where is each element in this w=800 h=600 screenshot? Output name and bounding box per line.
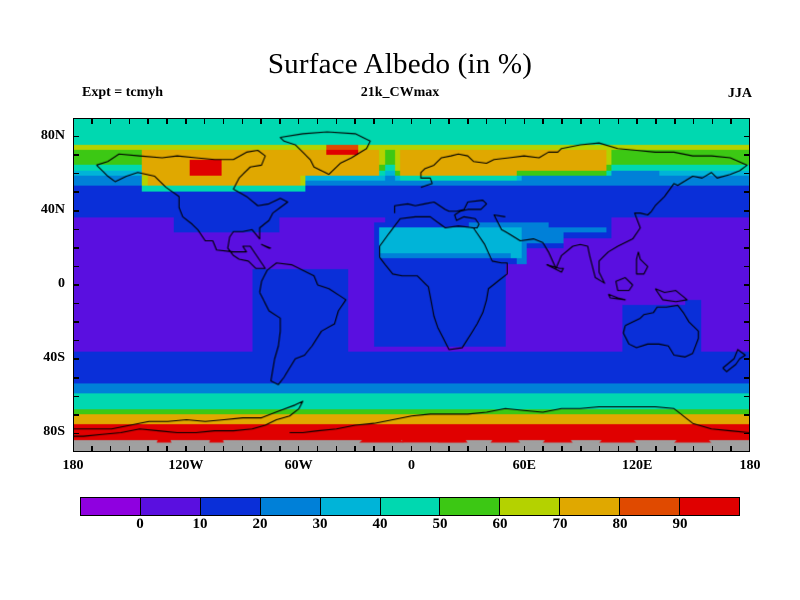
x-axis-tick	[354, 446, 356, 452]
y-axis-tick	[73, 303, 79, 305]
x-axis-tick	[373, 446, 375, 452]
x-axis-tick	[448, 118, 450, 124]
x-axis-tick	[336, 118, 338, 124]
y-axis-tick	[73, 266, 79, 268]
x-axis-label: 120E	[607, 458, 667, 474]
y-axis-tick	[73, 173, 79, 175]
y-axis-tick	[744, 414, 750, 416]
colorbar-swatch	[140, 498, 200, 515]
x-axis-tick	[580, 446, 582, 452]
y-axis-tick	[73, 433, 79, 435]
colorbar-swatch	[200, 498, 260, 515]
x-axis-tick	[147, 446, 149, 452]
colorbar	[80, 497, 740, 516]
y-axis-tick	[73, 210, 79, 212]
x-axis-tick	[505, 446, 507, 452]
colorbar-tick-label: 80	[600, 516, 640, 533]
x-axis-label: 0	[382, 458, 442, 474]
x-axis-tick	[223, 446, 225, 452]
colorbar-swatch	[679, 498, 739, 515]
y-axis-tick	[744, 433, 750, 435]
y-axis-tick	[73, 247, 79, 249]
x-axis-tick	[242, 118, 244, 124]
y-axis-label: 0	[15, 276, 65, 292]
x-axis-tick	[317, 118, 319, 124]
x-axis-tick	[730, 118, 732, 124]
x-axis-tick	[730, 446, 732, 452]
x-axis-tick	[392, 446, 394, 452]
y-axis-label: 80N	[15, 128, 65, 144]
experiment-label: Expt = tcmyh	[82, 85, 163, 101]
x-axis-tick	[561, 118, 563, 124]
x-axis-tick	[373, 118, 375, 124]
y-axis-label: 80S	[15, 424, 65, 440]
x-axis-tick	[655, 118, 657, 124]
y-axis-tick	[73, 414, 79, 416]
figure-root: Surface Albedo (in %) 21k_CWmax Expt = t…	[0, 0, 800, 600]
colorbar-swatch	[380, 498, 440, 515]
albedo-map-canvas	[74, 119, 749, 451]
x-axis-tick	[110, 118, 112, 124]
colorbar-tick-label: 40	[360, 516, 400, 533]
x-axis-tick	[524, 118, 526, 124]
y-axis-tick	[73, 136, 79, 138]
colorbar-swatch	[619, 498, 679, 515]
colorbar-tick-label: 30	[300, 516, 340, 533]
x-axis-label: 180	[43, 458, 103, 474]
y-axis-tick	[744, 154, 750, 156]
x-axis-tick	[561, 446, 563, 452]
y-axis-label: 40S	[15, 350, 65, 366]
x-axis-tick	[448, 446, 450, 452]
map-plot-area	[73, 118, 750, 452]
x-axis-label: 60W	[269, 458, 329, 474]
x-axis-tick	[430, 118, 432, 124]
x-axis-tick	[147, 118, 149, 124]
y-axis-tick	[744, 303, 750, 305]
y-axis-tick	[744, 340, 750, 342]
x-axis-label: 180	[720, 458, 780, 474]
y-axis-tick	[73, 284, 79, 286]
season-label: JJA	[728, 86, 752, 102]
colorbar-swatch	[499, 498, 559, 515]
x-axis-tick	[486, 446, 488, 452]
x-axis-tick	[693, 118, 695, 124]
y-axis-tick	[744, 358, 750, 360]
colorbar-swatch	[260, 498, 320, 515]
x-axis-tick	[580, 118, 582, 124]
y-axis-tick	[744, 396, 750, 398]
colorbar-tick-label: 50	[420, 516, 460, 533]
x-axis-tick	[674, 446, 676, 452]
x-axis-tick	[354, 118, 356, 124]
colorbar-tick-label: 70	[540, 516, 580, 533]
x-axis-tick	[317, 446, 319, 452]
x-axis-tick	[712, 118, 714, 124]
y-axis-tick	[744, 266, 750, 268]
x-axis-tick	[599, 446, 601, 452]
y-axis-tick	[73, 396, 79, 398]
x-axis-tick	[279, 446, 281, 452]
x-axis-tick	[129, 446, 131, 452]
x-axis-tick	[655, 446, 657, 452]
colorbar-tick-label: 0	[120, 516, 160, 533]
x-axis-tick	[91, 446, 93, 452]
x-axis-tick	[336, 446, 338, 452]
y-axis-label: 40N	[15, 202, 65, 218]
x-axis-tick	[204, 446, 206, 452]
x-axis-tick	[260, 446, 262, 452]
x-axis-tick	[279, 118, 281, 124]
x-axis-tick	[712, 446, 714, 452]
x-axis-tick	[166, 446, 168, 452]
y-axis-tick	[744, 321, 750, 323]
chart-title: Surface Albedo (in %)	[0, 48, 800, 81]
colorbar-tick-label: 10	[180, 516, 220, 533]
x-axis-tick	[636, 446, 638, 452]
colorbar-swatch	[320, 498, 380, 515]
y-axis-tick	[744, 136, 750, 138]
x-axis-tick	[618, 446, 620, 452]
y-axis-tick	[73, 191, 79, 193]
y-axis-tick	[73, 340, 79, 342]
x-axis-tick	[467, 446, 469, 452]
y-axis-tick	[744, 284, 750, 286]
x-axis-tick	[486, 118, 488, 124]
x-axis-tick	[110, 446, 112, 452]
y-axis-tick	[73, 358, 79, 360]
x-axis-tick	[204, 118, 206, 124]
x-axis-tick	[542, 118, 544, 124]
y-axis-tick	[744, 210, 750, 212]
x-axis-tick	[674, 118, 676, 124]
x-axis-label: 60E	[494, 458, 554, 474]
x-axis-tick	[505, 118, 507, 124]
x-axis-label: 120W	[156, 458, 216, 474]
x-axis-tick	[467, 118, 469, 124]
x-axis-tick	[392, 118, 394, 124]
x-axis-tick	[91, 118, 93, 124]
y-axis-tick	[744, 229, 750, 231]
x-axis-tick	[185, 446, 187, 452]
x-axis-tick	[298, 446, 300, 452]
colorbar-tick-label: 90	[660, 516, 700, 533]
colorbar-tick-label: 20	[240, 516, 280, 533]
x-axis-tick	[260, 118, 262, 124]
x-axis-tick	[524, 446, 526, 452]
y-axis-tick	[73, 154, 79, 156]
x-axis-tick	[185, 118, 187, 124]
x-axis-tick	[166, 118, 168, 124]
x-axis-tick	[430, 446, 432, 452]
y-axis-tick	[73, 377, 79, 379]
x-axis-tick	[599, 118, 601, 124]
x-axis-tick	[636, 118, 638, 124]
x-axis-tick	[242, 446, 244, 452]
x-axis-tick	[129, 118, 131, 124]
y-axis-tick	[744, 173, 750, 175]
y-axis-tick	[73, 229, 79, 231]
colorbar-swatch	[81, 498, 140, 515]
x-axis-tick	[298, 118, 300, 124]
x-axis-tick	[411, 118, 413, 124]
x-axis-tick	[411, 446, 413, 452]
y-axis-tick	[73, 321, 79, 323]
x-axis-tick	[542, 446, 544, 452]
y-axis-tick	[744, 191, 750, 193]
y-axis-tick	[744, 247, 750, 249]
x-axis-tick	[693, 446, 695, 452]
colorbar-swatch	[439, 498, 499, 515]
y-axis-tick	[744, 377, 750, 379]
x-axis-tick	[223, 118, 225, 124]
x-axis-tick	[618, 118, 620, 124]
colorbar-swatch	[559, 498, 619, 515]
colorbar-tick-label: 60	[480, 516, 520, 533]
